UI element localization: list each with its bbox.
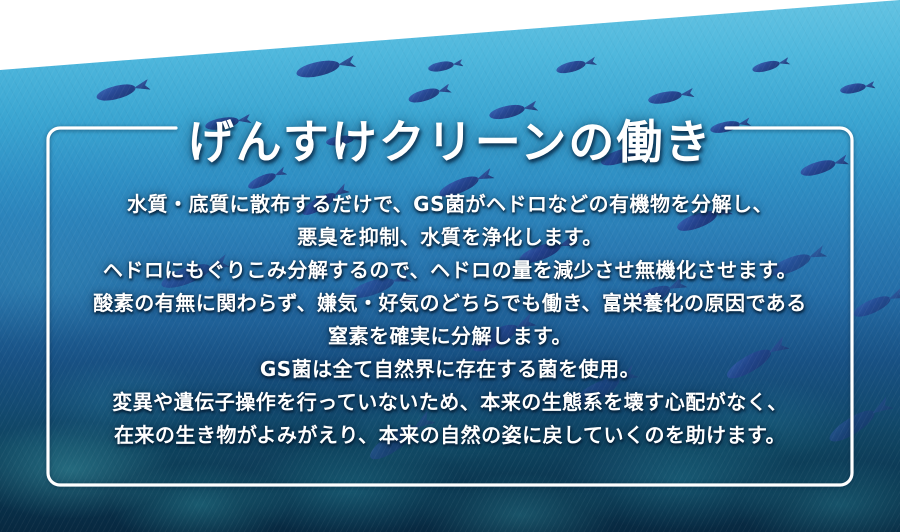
body-line-2: 悪臭を抑制、水質を浄化します。: [0, 221, 900, 254]
body-line-7: 変異や遺伝子操作を行っていないため、本来の生態系を壊す心配がなく、: [0, 386, 900, 419]
banner-graphic: げんすけクリーンの働き 水質・底質に散布するだけで、GS菌がヘドロなどの有機物を…: [0, 0, 900, 532]
body-copy: 水質・底質に散布するだけで、GS菌がヘドロなどの有機物を分解し、 悪臭を抑制、水…: [0, 188, 900, 452]
page-title: げんすけクリーンの働き: [0, 106, 900, 172]
body-line-8: 在来の生き物がよみがえり、本来の自然の姿に戻していくのを助けます。: [0, 419, 900, 452]
body-line-6: GS菌は全て自然界に存在する菌を使用。: [0, 353, 900, 386]
body-line-5: 窒素を確実に分解します。: [0, 320, 900, 353]
body-line-4: 酸素の有無に関わらず、嫌気・好気のどちらでも働き、富栄養化の原因である: [0, 287, 900, 320]
body-line-1: 水質・底質に散布するだけで、GS菌がヘドロなどの有機物を分解し、: [0, 188, 900, 221]
body-line-3: ヘドロにもぐりこみ分解するので、ヘドロの量を減少させ無機化させます。: [0, 254, 900, 287]
